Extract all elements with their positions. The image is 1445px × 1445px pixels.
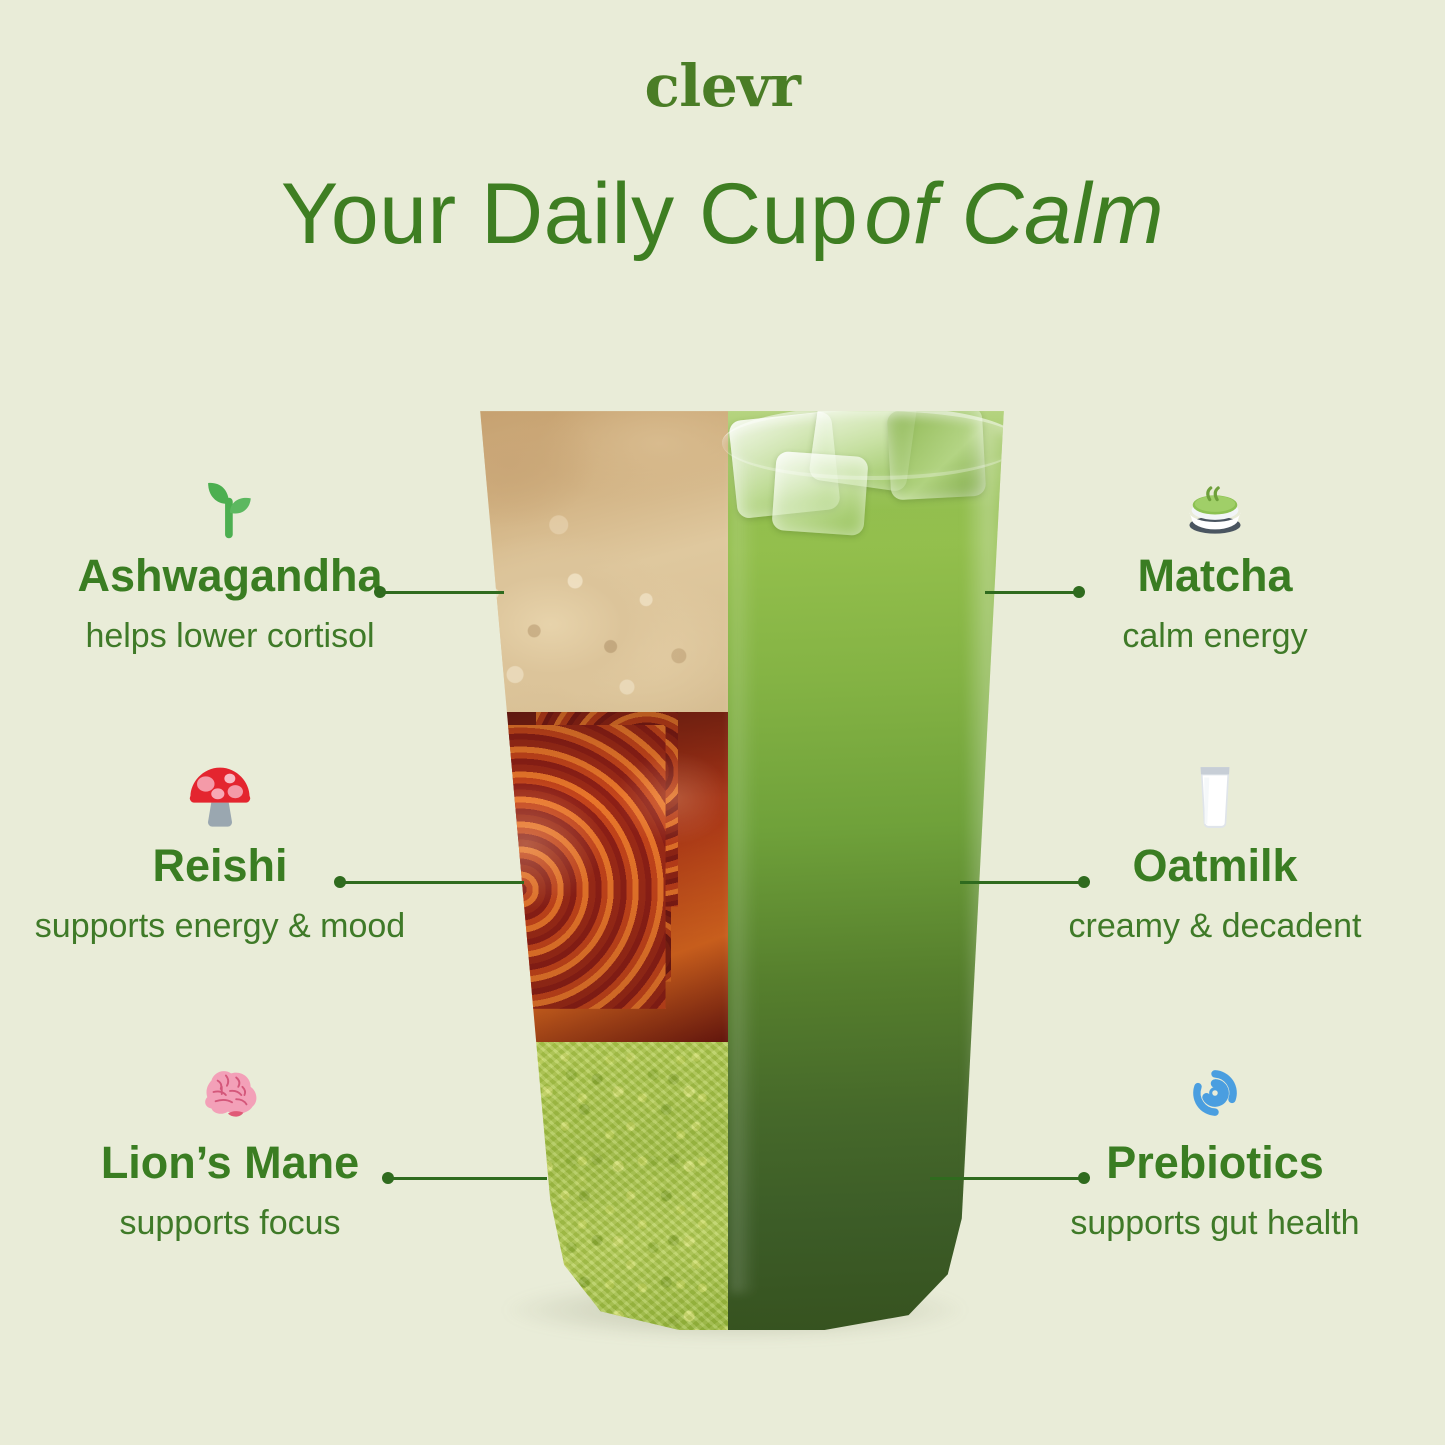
cup-drink-half — [728, 400, 1015, 1330]
product-image — [455, 400, 1015, 1360]
matcha-bowl-icon — [1015, 468, 1415, 544]
callout-reishi: Reishi supports energy & mood — [20, 758, 420, 946]
connector-line — [392, 1177, 547, 1180]
connector-dot — [1073, 586, 1085, 598]
connector-matcha — [985, 586, 1085, 598]
callout-prebiotics: Prebiotics supports gut health — [1015, 1055, 1415, 1243]
seedling-icon — [30, 468, 430, 544]
headline-regular: Your Daily Cup — [281, 166, 858, 262]
callout-title: Lion’s Mane — [30, 1139, 430, 1186]
callout-subtitle: supports gut health — [1015, 1204, 1415, 1243]
connector-oatmilk — [960, 876, 1090, 888]
connector-line — [384, 591, 504, 594]
callout-subtitle: calm energy — [1015, 617, 1415, 656]
callout-ashwagandha: Ashwagandha helps lower cortisol — [30, 468, 430, 656]
connector-ashwagandha — [374, 586, 504, 598]
connector-reishi — [334, 876, 524, 888]
connector-line — [985, 591, 1075, 594]
glass-highlight-left — [731, 456, 757, 1293]
callout-subtitle: helps lower cortisol — [30, 617, 430, 656]
connector-line — [344, 881, 524, 884]
callout-subtitle: creamy & decadent — [1015, 907, 1415, 946]
callout-matcha: Matcha calm energy — [1015, 468, 1415, 656]
product-cup — [455, 400, 1015, 1330]
callout-subtitle: supports energy & mood — [20, 907, 420, 946]
glass-highlight — [963, 428, 1009, 1302]
connector-line — [930, 1177, 1080, 1180]
connector-lionsmane — [382, 1172, 547, 1184]
connector-prebiotics — [930, 1172, 1090, 1184]
cup-ingredient-collage — [455, 400, 728, 1330]
callout-lionsmane: Lion’s Mane supports focus — [30, 1055, 430, 1243]
brain-icon — [30, 1055, 430, 1131]
ingredient-band-ashwagandha — [455, 400, 728, 712]
milk-glass-icon — [1015, 758, 1415, 834]
callout-oatmilk: Oatmilk creamy & decadent — [1015, 758, 1415, 946]
brand-logo: clevr — [0, 57, 1445, 115]
spiral-icon — [1015, 1055, 1415, 1131]
infographic-canvas: clevr Your Daily Cupof Calm — [0, 0, 1445, 1445]
connector-dot — [1078, 876, 1090, 888]
page-title: Your Daily Cupof Calm — [0, 168, 1445, 261]
connector-dot — [1078, 1172, 1090, 1184]
headline-italic: of Calm — [864, 166, 1164, 262]
mushroom-icon — [20, 758, 420, 834]
ingredient-band-matcha — [455, 1042, 728, 1330]
callout-title: Ashwagandha — [30, 552, 430, 599]
callout-subtitle: supports focus — [30, 1204, 430, 1243]
connector-line — [960, 881, 1080, 884]
